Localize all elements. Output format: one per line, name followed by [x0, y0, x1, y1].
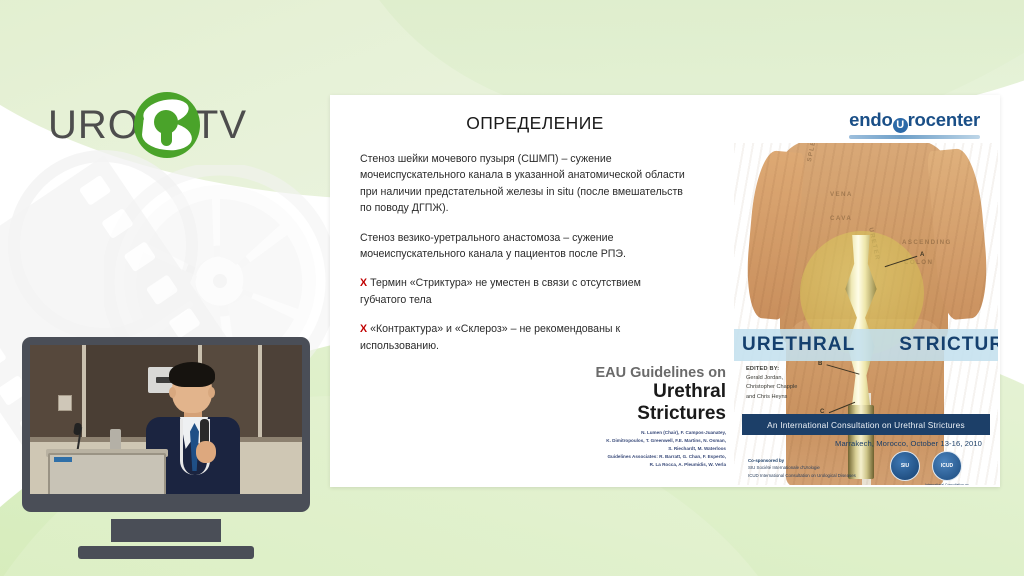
slide-paragraph-1: Стеноз шейки мочевого пузыря (СШМП) – су… [360, 151, 690, 217]
slide-bullet-1: XТермин «Стриктура» не уместен в связи с… [360, 275, 690, 308]
book-editor-name: and Chris Heyns [746, 393, 797, 402]
anatomy-label-vena: VENA [830, 191, 853, 198]
slide-title: ОПРЕДЕЛЕНИЕ [330, 113, 740, 134]
endourocenter-logo: endoUrocenter [849, 109, 980, 139]
eau-line-2a: Urethral [526, 381, 726, 402]
video-monitor[interactable] [22, 337, 310, 559]
video-screen[interactable] [30, 345, 302, 494]
slide: ОПРЕДЕЛЕНИЕ endoUrocenter Стеноз шейки м… [330, 95, 1000, 487]
endourocenter-wordmark: endoUrocenter [849, 109, 980, 133]
book-sponsor-line: SIU Société Internationale d'Urologie [748, 464, 856, 471]
eau-line-1: EAU Guidelines on [526, 365, 726, 382]
anatomy-label-spleen: SPLEEN [806, 143, 820, 162]
book-title-part1: URETHRAL [742, 334, 855, 356]
slide-paragraph-2: Стеноз везико-уретрального анастомоза – … [360, 230, 690, 263]
endourocenter-text-after: rocenter [908, 109, 980, 130]
uro-tv-logo: URO TV [48, 92, 247, 158]
wall-switch [58, 395, 72, 411]
presentation-screen: URO TV [0, 0, 1024, 576]
eau-author-line: R. La Rocca, A. Pleumidis, W. Verla [526, 461, 726, 469]
book-sponsor-heading: Co-sponsored by [748, 457, 856, 464]
uro-tv-swirl-icon [134, 92, 200, 158]
book-edited-heading: EDITED BY: [746, 365, 797, 374]
anatomy-label-ascending: ASCENDING [902, 239, 952, 246]
eau-author-line: K. Dimitropoulos, T. Greenwell, F.E. Mar… [526, 437, 726, 445]
book-editor-name: Gerald Jordan, [746, 374, 797, 383]
siu-seal-icon: SIU [890, 451, 920, 481]
x-marker-icon: X [360, 277, 367, 289]
anatomy-label-cava: CAVA [830, 215, 852, 222]
monitor-bezel [22, 337, 310, 512]
monitor-base [78, 546, 254, 559]
logo-text-uro: URO [48, 105, 140, 145]
eau-author-line: S. Riechardt, M. Waterloos [526, 445, 726, 453]
slide-body: Стеноз шейки мочевого пузыря (СШМП) – су… [360, 151, 690, 367]
book-title-part2: STRICTURES [899, 334, 998, 356]
book-cover: VENA CAVA ASCENDING COLON URETER SPLEEN … [734, 143, 998, 485]
book-title: URETHRAL STRICTURES [734, 329, 998, 361]
eau-guidelines-block: EAU Guidelines on Urethral Strictures N.… [526, 365, 726, 469]
book-editors: EDITED BY: Gerald Jordan, Christopher Ch… [746, 365, 797, 402]
icud-seal-icon: ICUD [932, 451, 962, 481]
book-consultation-strip: An International Consultation on Urethra… [742, 414, 990, 435]
eau-author-line: Guidelines Associates: R. Barratt, G. Ch… [526, 453, 726, 461]
eau-authors: N. Lumen (Chair), F. Campos-Juanatey, K.… [526, 429, 726, 469]
slide-bullet-2: X«Контрактура» и «Склероз» – не рекоменд… [360, 321, 690, 354]
pointer-label-a: A [920, 252, 924, 258]
book-sponsor-line: ICUD International Consultation on Urolo… [748, 472, 856, 479]
eau-line-2b: Strictures [526, 403, 726, 424]
eau-author-line: N. Lumen (Chair), F. Campos-Juanatey, [526, 429, 726, 437]
endourocenter-underline [849, 135, 980, 139]
slide-bullet-1-text: Термин «Стриктура» не уместен в связи с … [360, 277, 641, 305]
slide-bullet-2-text: «Контрактура» и «Склероз» – не рекомендо… [360, 323, 620, 351]
endourocenter-u-badge-icon: U [893, 118, 908, 133]
endourocenter-text-before: endo [849, 109, 892, 130]
pointer-label-b: B [818, 361, 822, 367]
icud-seal-caption: International Consultation on Urological… [924, 483, 970, 485]
monitor-neck [111, 519, 221, 542]
book-place-date: Marrakech, Morocco, October 13-16, 2010 [835, 439, 982, 448]
book-sponsors: Co-sponsored by SIU Société Internationa… [748, 457, 856, 479]
x-marker-icon: X [360, 323, 367, 335]
book-editor-name: Christopher Chapple [746, 383, 797, 392]
logo-text-tv: TV [194, 105, 247, 145]
